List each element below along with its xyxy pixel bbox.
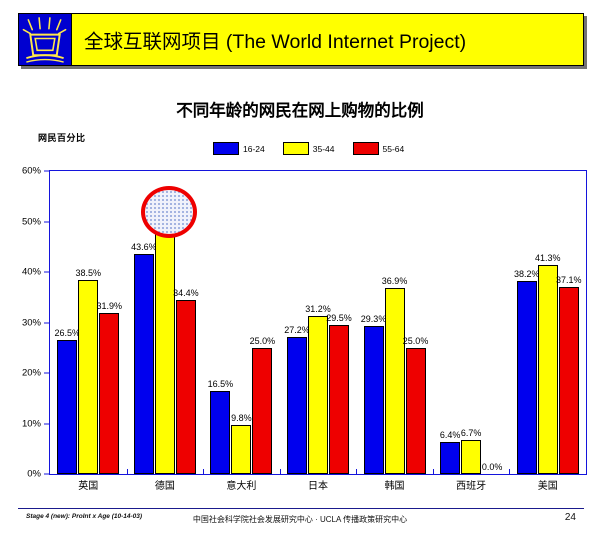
bar-value-label: 43.6% xyxy=(131,242,157,252)
y-axis: 0%10%20%30%40%50%60% xyxy=(0,170,49,475)
bar xyxy=(559,287,579,474)
x-axis-tick-mark xyxy=(356,469,357,474)
y-axis-tick-label: 0% xyxy=(27,469,41,480)
chart-legend: 16-2435-4455-64 xyxy=(213,142,404,155)
bar xyxy=(78,280,98,474)
y-axis-tick-label: 60% xyxy=(22,166,41,177)
bar xyxy=(538,265,558,474)
bar xyxy=(134,254,154,474)
bar xyxy=(252,348,272,474)
legend-swatch xyxy=(283,142,309,155)
bar xyxy=(210,391,230,474)
x-axis-tick-mark xyxy=(280,469,281,474)
legend-item: 16-24 xyxy=(213,142,265,155)
y-axis-tick-label: 40% xyxy=(22,267,41,278)
bar xyxy=(364,326,384,474)
bar-value-label: 31.9% xyxy=(97,301,123,311)
bar xyxy=(57,340,77,474)
x-axis-tick-mark xyxy=(203,469,204,474)
legend-swatch xyxy=(213,142,239,155)
bar-group: 38.2%41.3%37.1% xyxy=(517,171,579,474)
bar xyxy=(308,316,328,474)
y-axis-caption: 网民百分比 xyxy=(38,131,86,144)
footer-organizations: 中国社会科学院社会发展研究中心 · UCLA 传播政策研究中心 xyxy=(0,514,600,525)
bar xyxy=(99,313,119,474)
x-axis-tick-mark xyxy=(509,469,510,474)
bar-group: 27.2%31.2%29.5% xyxy=(287,171,349,474)
legend-item: 35-44 xyxy=(283,142,335,155)
x-axis-category-label: 意大利 xyxy=(226,477,256,492)
bar-value-label: 25.0% xyxy=(403,336,429,346)
title-banner-body: 全球互联网项目 (The World Internet Project) xyxy=(72,13,584,66)
bar-value-label: 29.3% xyxy=(361,314,387,324)
y-axis-tick-label: 20% xyxy=(22,368,41,379)
y-axis-tick-label: 50% xyxy=(22,216,41,227)
bars-layer: 26.5%38.5%31.9%43.6%51.6%34.4%16.5%9.8%2… xyxy=(50,171,586,474)
x-axis-category-label: 韩国 xyxy=(385,477,405,492)
footer-divider xyxy=(18,508,584,509)
bar-value-label: 38.2% xyxy=(514,269,540,279)
chart-title: 不同年龄的网民在网上购物的比例 xyxy=(0,97,600,121)
x-axis-tick-mark xyxy=(127,469,128,474)
bar-value-label: 51.6% xyxy=(152,201,178,211)
legend-item: 55-64 xyxy=(353,142,405,155)
bar-value-label: 37.1% xyxy=(556,275,582,285)
bar xyxy=(406,348,426,474)
x-axis-labels: 英国德国意大利日本韩国西班牙美国 xyxy=(50,477,586,495)
bar-group: 16.5%9.8%25.0% xyxy=(210,171,272,474)
bar xyxy=(176,300,196,474)
bar-value-label: 6.4% xyxy=(440,430,461,440)
bar xyxy=(461,440,481,474)
bar-value-label: 0.0% xyxy=(482,462,503,472)
bar-value-label: 38.5% xyxy=(76,268,102,278)
legend-label: 35-44 xyxy=(313,144,335,154)
x-axis-category-label: 英国 xyxy=(78,477,98,492)
y-axis-tick-label: 10% xyxy=(22,418,41,429)
bar-value-label: 36.9% xyxy=(382,276,408,286)
x-axis-category-label: 德国 xyxy=(155,477,175,492)
legend-swatch xyxy=(353,142,379,155)
bar-group: 6.4%6.7%0.0% xyxy=(440,171,502,474)
y-axis-tick-label: 30% xyxy=(22,317,41,328)
page-number: 24 xyxy=(565,512,576,523)
legend-label: 16-24 xyxy=(243,144,265,154)
bar-value-label: 34.4% xyxy=(173,288,199,298)
bar xyxy=(155,213,175,474)
monitor-rays-logo xyxy=(18,13,72,66)
bar-group: 29.3%36.9%25.0% xyxy=(364,171,426,474)
page-title: 全球互联网项目 (The World Internet Project) xyxy=(84,25,466,54)
legend-label: 55-64 xyxy=(383,144,405,154)
x-axis-category-label: 日本 xyxy=(308,477,328,492)
bar-value-label: 16.5% xyxy=(208,379,234,389)
bar xyxy=(287,337,307,474)
slide: 全球互联网项目 (The World Internet Project) 不同年… xyxy=(0,0,600,540)
x-axis-tick-mark xyxy=(433,469,434,474)
bar xyxy=(385,288,405,474)
bar-value-label: 26.5% xyxy=(55,328,81,338)
bar xyxy=(231,425,251,474)
bar-value-label: 41.3% xyxy=(535,253,561,263)
bar-group: 26.5%38.5%31.9% xyxy=(57,171,119,474)
bar xyxy=(440,442,460,474)
x-axis-category-label: 西班牙 xyxy=(456,477,486,492)
x-axis-category-label: 美国 xyxy=(538,477,558,492)
bar xyxy=(329,325,349,474)
bar-value-label: 25.0% xyxy=(250,336,276,346)
bar xyxy=(517,281,537,474)
bar-group: 43.6%51.6%34.4% xyxy=(134,171,196,474)
bar-value-label: 9.8% xyxy=(231,413,252,423)
bar-value-label: 27.2% xyxy=(284,325,310,335)
bar-value-label: 29.5% xyxy=(326,313,352,323)
title-banner: 全球互联网项目 (The World Internet Project) xyxy=(18,13,584,66)
bar-value-label: 6.7% xyxy=(461,428,482,438)
